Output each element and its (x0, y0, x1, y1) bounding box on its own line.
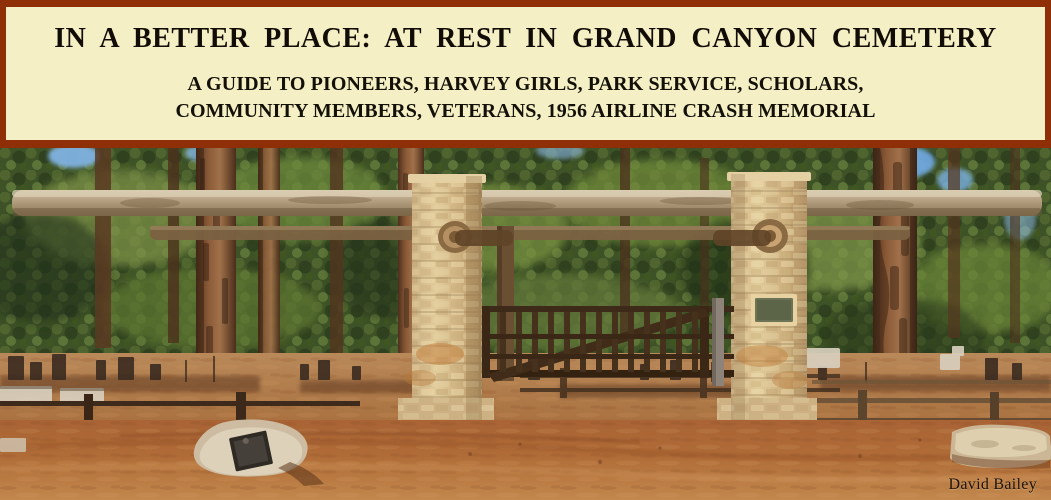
photo-canvas (0, 148, 1051, 500)
page-title: IN A BETTER PLACE: AT REST IN GRAND CANY… (6, 7, 1045, 53)
log-lintel-beam (12, 190, 1042, 216)
subtitle-line-1: A GUIDE TO PIONEERS, HARVEY GIRLS, PARK … (6, 71, 1045, 98)
page-subtitle: A GUIDE TO PIONEERS, HARVEY GIRLS, PARK … (6, 53, 1045, 124)
mid-left-pine-trunk (258, 148, 280, 383)
poster-page: IN A BETTER PLACE: AT REST IN GRAND CANY… (0, 0, 1051, 500)
subtitle-line-2: COMMUNITY MEMBERS, VETERANS, 1956 AIRLIN… (6, 98, 1045, 125)
wooden-entrance-gate (482, 298, 734, 386)
foreground-stone-block (950, 425, 1051, 469)
banner-inner: IN A BETTER PLACE: AT REST IN GRAND CANY… (6, 7, 1045, 125)
title-banner: IN A BETTER PLACE: AT REST IN GRAND CANY… (0, 0, 1051, 148)
small-ground-marker (0, 438, 26, 452)
cemetery-gate-photo: David Bailey (0, 148, 1051, 500)
